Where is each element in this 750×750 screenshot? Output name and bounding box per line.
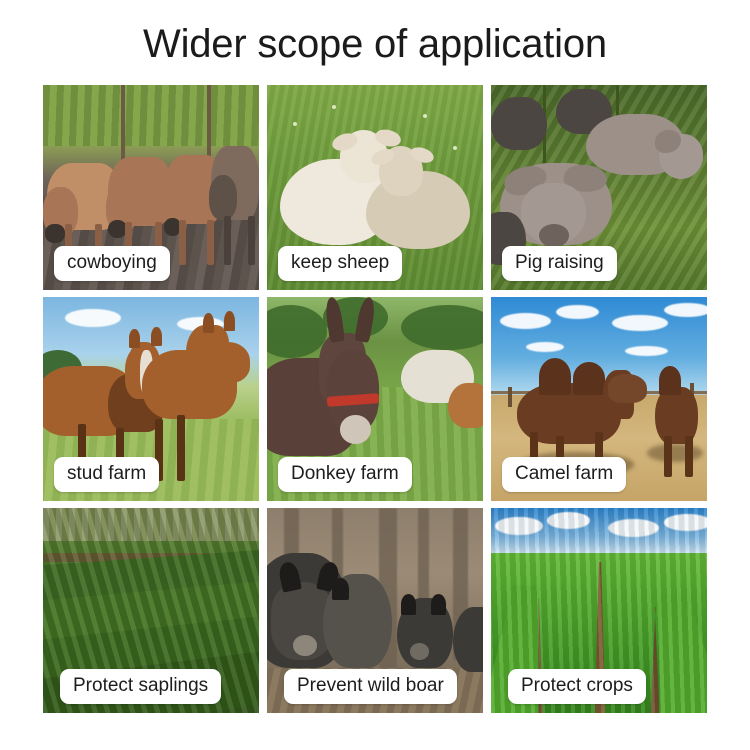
page-title: Wider scope of application [0, 22, 750, 67]
label-donkey-farm: Donkey farm [278, 457, 412, 492]
card-keep-sheep[interactable]: keep sheep [267, 85, 483, 290]
card-camel-farm[interactable]: Camel farm [491, 297, 707, 502]
label-keep-sheep: keep sheep [278, 246, 402, 281]
label-prevent-wild-boar: Prevent wild boar [284, 669, 457, 704]
card-stud-farm[interactable]: stud farm [43, 297, 259, 502]
application-grid: cowboying keep sheep [43, 85, 707, 713]
card-protect-saplings[interactable]: Protect saplings [43, 508, 259, 713]
card-prevent-wild-boar[interactable]: Prevent wild boar [267, 508, 483, 713]
card-cowboying[interactable]: cowboying [43, 85, 259, 290]
label-cowboying: cowboying [54, 246, 170, 281]
card-donkey-farm[interactable]: Donkey farm [267, 297, 483, 502]
card-protect-crops[interactable]: Protect crops [491, 508, 707, 713]
label-protect-crops: Protect crops [508, 669, 646, 704]
card-pig-raising[interactable]: Pig raising [491, 85, 707, 290]
page-root: Wider scope of application [0, 0, 750, 750]
label-camel-farm: Camel farm [502, 457, 626, 492]
label-protect-saplings: Protect saplings [60, 669, 221, 704]
label-stud-farm: stud farm [54, 457, 159, 492]
label-pig-raising: Pig raising [502, 246, 617, 281]
